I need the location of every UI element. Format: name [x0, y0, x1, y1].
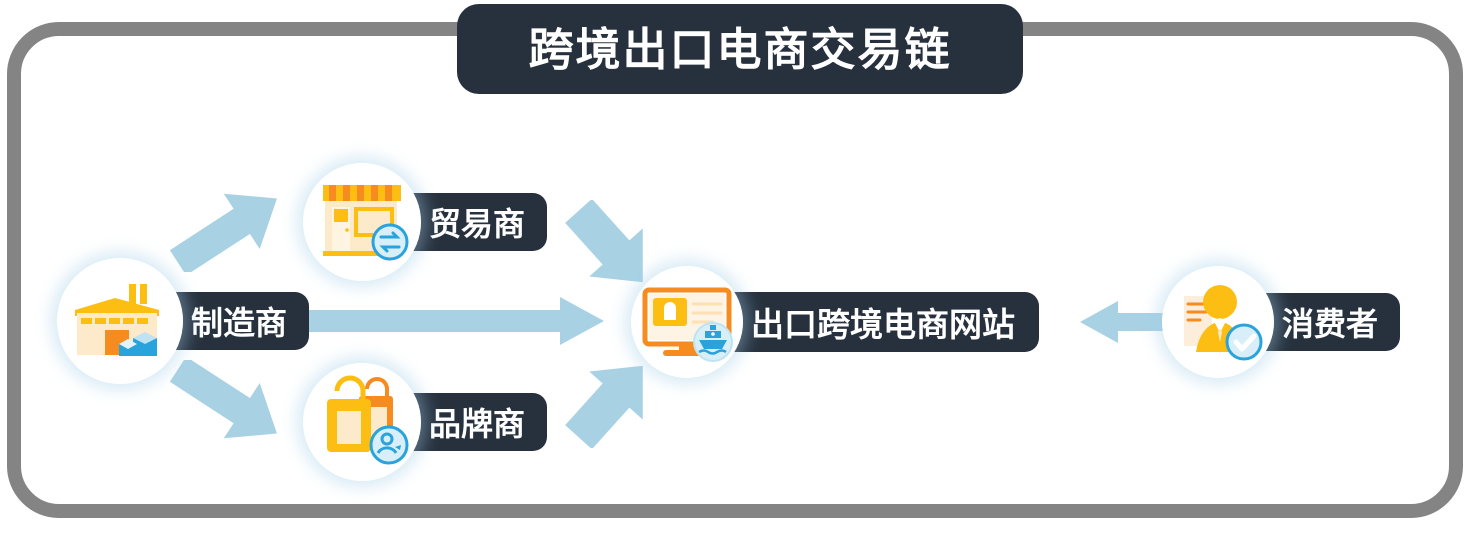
- monitor-ship-icon: [631, 266, 743, 378]
- shopping-bags-icon-circle: [303, 363, 421, 481]
- consumer-person-icon: [1162, 266, 1274, 378]
- factory-icon: [57, 258, 183, 384]
- node-brand-label-text: 品牌商: [429, 399, 525, 445]
- node-website-label-text: 出口跨境电商网站: [751, 298, 1015, 346]
- arrow-consumer-to-website: [1078, 300, 1164, 344]
- page-title: 跨境出口电商交易链: [528, 27, 951, 72]
- arrow-manufacturer-to-website: [308, 296, 606, 346]
- diagram-canvas: 跨境出口电商交易链: [0, 0, 1484, 542]
- monitor-ship-icon-circle: [631, 266, 743, 378]
- storefront-icon-circle: [303, 163, 421, 281]
- node-website-label: 出口跨境电商网站: [703, 292, 1039, 352]
- node-brand[interactable]: 品牌商: [303, 363, 547, 481]
- shopping-bags-icon: [303, 363, 421, 481]
- factory-icon-circle: [57, 258, 183, 384]
- node-trader-label-text: 贸易商: [429, 199, 525, 245]
- node-consumer-label-text: 消费者: [1282, 299, 1378, 345]
- consumer-person-icon-circle: [1162, 266, 1274, 378]
- node-trader[interactable]: 贸易商: [303, 163, 547, 281]
- node-website[interactable]: 出口跨境电商网站: [631, 266, 1039, 378]
- node-manufacturer-label-text: 制造商: [191, 298, 287, 344]
- node-consumer[interactable]: 消费者: [1162, 266, 1400, 378]
- storefront-icon: [303, 163, 421, 281]
- diagram-title-pill: 跨境出口电商交易链: [457, 4, 1023, 94]
- node-manufacturer[interactable]: 制造商: [57, 258, 309, 384]
